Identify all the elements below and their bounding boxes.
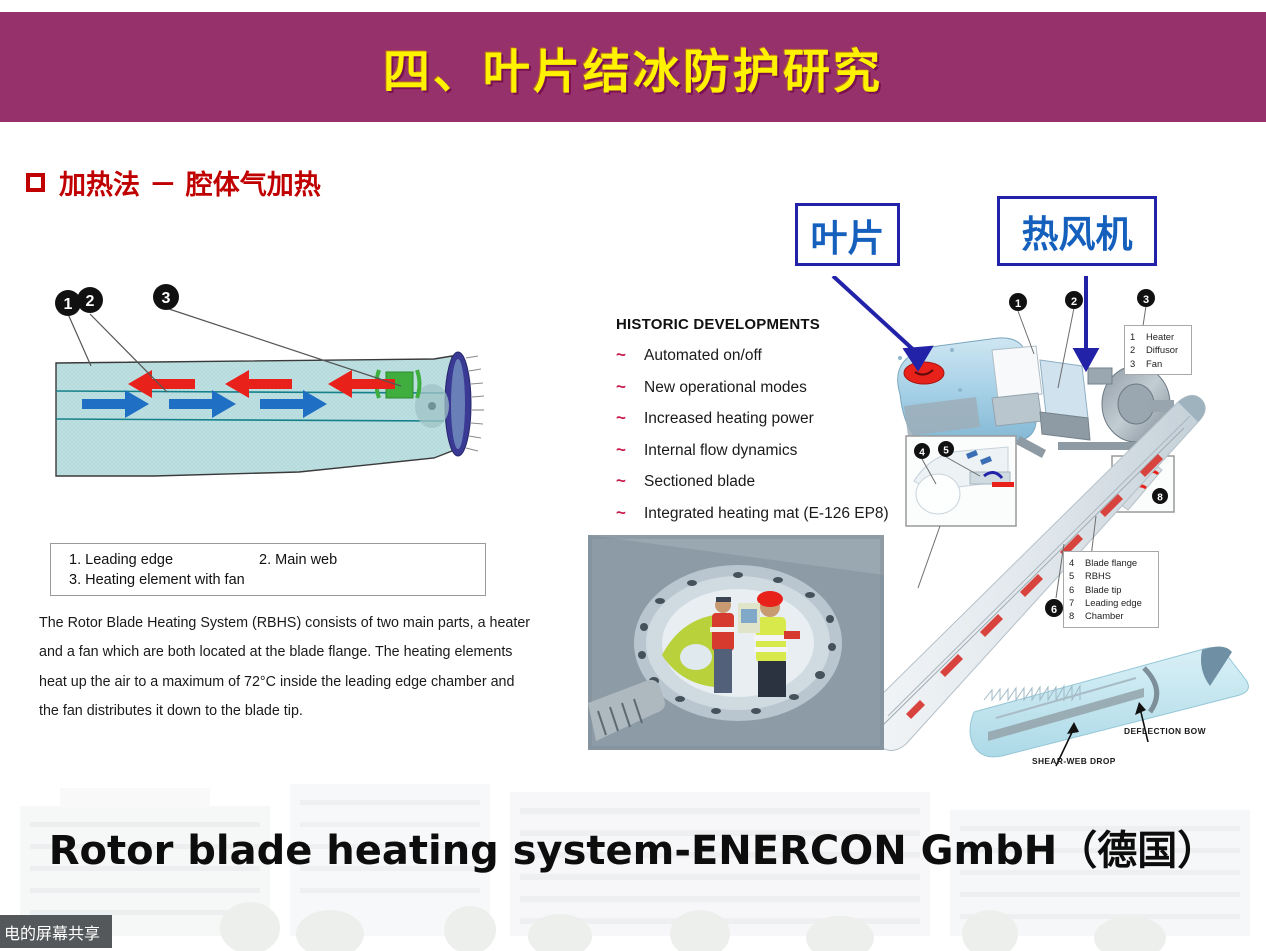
legend-cell: 2. Main web [259, 550, 337, 570]
callout-box-fan: 热风机 [997, 196, 1157, 266]
legend-number: 7 [1069, 596, 1078, 609]
legend-number: 3. [69, 572, 81, 588]
legend-label: RBHS [1085, 569, 1111, 582]
rbhs-description-paragraph: The Rotor Blade Heating System (RBHS) co… [39, 609, 537, 726]
legend-number: 8 [1069, 609, 1078, 622]
screen-share-label: 电的屏幕共享 [4, 920, 100, 944]
legend-number: 2 [1130, 343, 1139, 356]
blade-parts-legend-right: 4Blade flange 5RBHS 6Blade tip 7Leading … [1063, 551, 1159, 628]
legend-row: 7Leading edge [1069, 596, 1152, 609]
legend-row: 6Blade tip [1069, 583, 1152, 596]
legend-label: Chamber [1085, 609, 1124, 622]
slide-caption: Rotor blade heating system-ENERCON GmbH（… [0, 818, 1266, 876]
legend-number: 1 [1130, 330, 1139, 343]
heater-fan-legend: 1Heater 2Diffusor 3Fan [1124, 325, 1192, 375]
svg-text:3: 3 [162, 290, 171, 307]
legend-row: 1Heater [1130, 330, 1185, 343]
blade-parts-legend: 1. Leading edge 2. Main web 3. Heating e… [50, 543, 486, 596]
legend-number: 4 [1069, 556, 1078, 569]
deflection-bow-label: DEFLECTION BOW [1124, 726, 1206, 736]
legend-cell: 1. Leading edge [69, 550, 259, 570]
legend-label: Leading edge [1085, 596, 1142, 609]
svg-text:2: 2 [86, 293, 95, 310]
legend-label: Heater [1146, 330, 1174, 343]
technicians-in-blade-flange-photo [588, 535, 884, 750]
screen-share-indicator[interactable]: 电的屏幕共享 [0, 915, 112, 948]
annotation-arrow-fan [1076, 276, 1096, 368]
inset-detail-box-left: 4 5 [906, 436, 1016, 588]
legend-number: 1. [69, 552, 81, 568]
svg-text:8: 8 [1157, 493, 1163, 504]
legend-label: Blade flange [1085, 556, 1137, 569]
square-bullet-icon [26, 173, 45, 192]
svg-text:6: 6 [1051, 604, 1057, 616]
shear-web-drop-label: SHEAR-WEB DROP [1032, 756, 1116, 766]
legend-row: 2Diffusor [1130, 343, 1185, 356]
callout-box-blade: 叶片 [795, 203, 900, 266]
callout-label-fan: 热风机 [1022, 204, 1133, 258]
blade-tip-cutaway-diagram [970, 646, 1248, 766]
annotation-arrow-blade [833, 276, 930, 368]
legend-number: 2. [259, 552, 271, 568]
page-title: 四、叶片结冰防护研究 [383, 33, 883, 102]
svg-text:2: 2 [1071, 296, 1077, 308]
callout-label-blade: 叶片 [811, 208, 885, 262]
title-banner: 四、叶片结冰防护研究 [0, 12, 1266, 122]
legend-row: 8Chamber [1069, 609, 1152, 622]
legend-label: Main web [275, 552, 337, 568]
blade-cross-section-diagram: 1 2 3 [34, 276, 537, 531]
legend-label: Diffusor [1146, 343, 1178, 356]
legend-cell: 3. Heating element with fan [69, 570, 245, 590]
svg-text:4: 4 [919, 448, 925, 459]
svg-text:1: 1 [1015, 298, 1021, 310]
left-diagram-panel: 1 2 3 1. Leading edge 2. Main web 3. Hea… [34, 276, 537, 740]
legend-number: 5 [1069, 569, 1078, 582]
section-subtitle: 加热法 － 腔体气加热 [26, 163, 321, 202]
svg-text:3: 3 [1143, 294, 1149, 306]
svg-text:1: 1 [64, 296, 73, 313]
legend-row: 5RBHS [1069, 569, 1152, 582]
legend-row: 4Blade flange [1069, 556, 1152, 569]
legend-number: 6 [1069, 583, 1078, 596]
legend-label: Blade tip [1085, 583, 1121, 596]
legend-label: Fan [1146, 357, 1162, 370]
svg-text:5: 5 [943, 446, 949, 457]
legend-label: Leading edge [85, 552, 173, 568]
legend-number: 3 [1130, 357, 1139, 370]
legend-row: 3. Heating element with fan [69, 570, 485, 590]
legend-label: Heating element with fan [85, 572, 245, 588]
subtitle-label: 加热法 － 腔体气加热 [59, 163, 321, 202]
legend-row: 1. Leading edge 2. Main web [69, 550, 485, 570]
legend-row: 3Fan [1130, 357, 1185, 370]
